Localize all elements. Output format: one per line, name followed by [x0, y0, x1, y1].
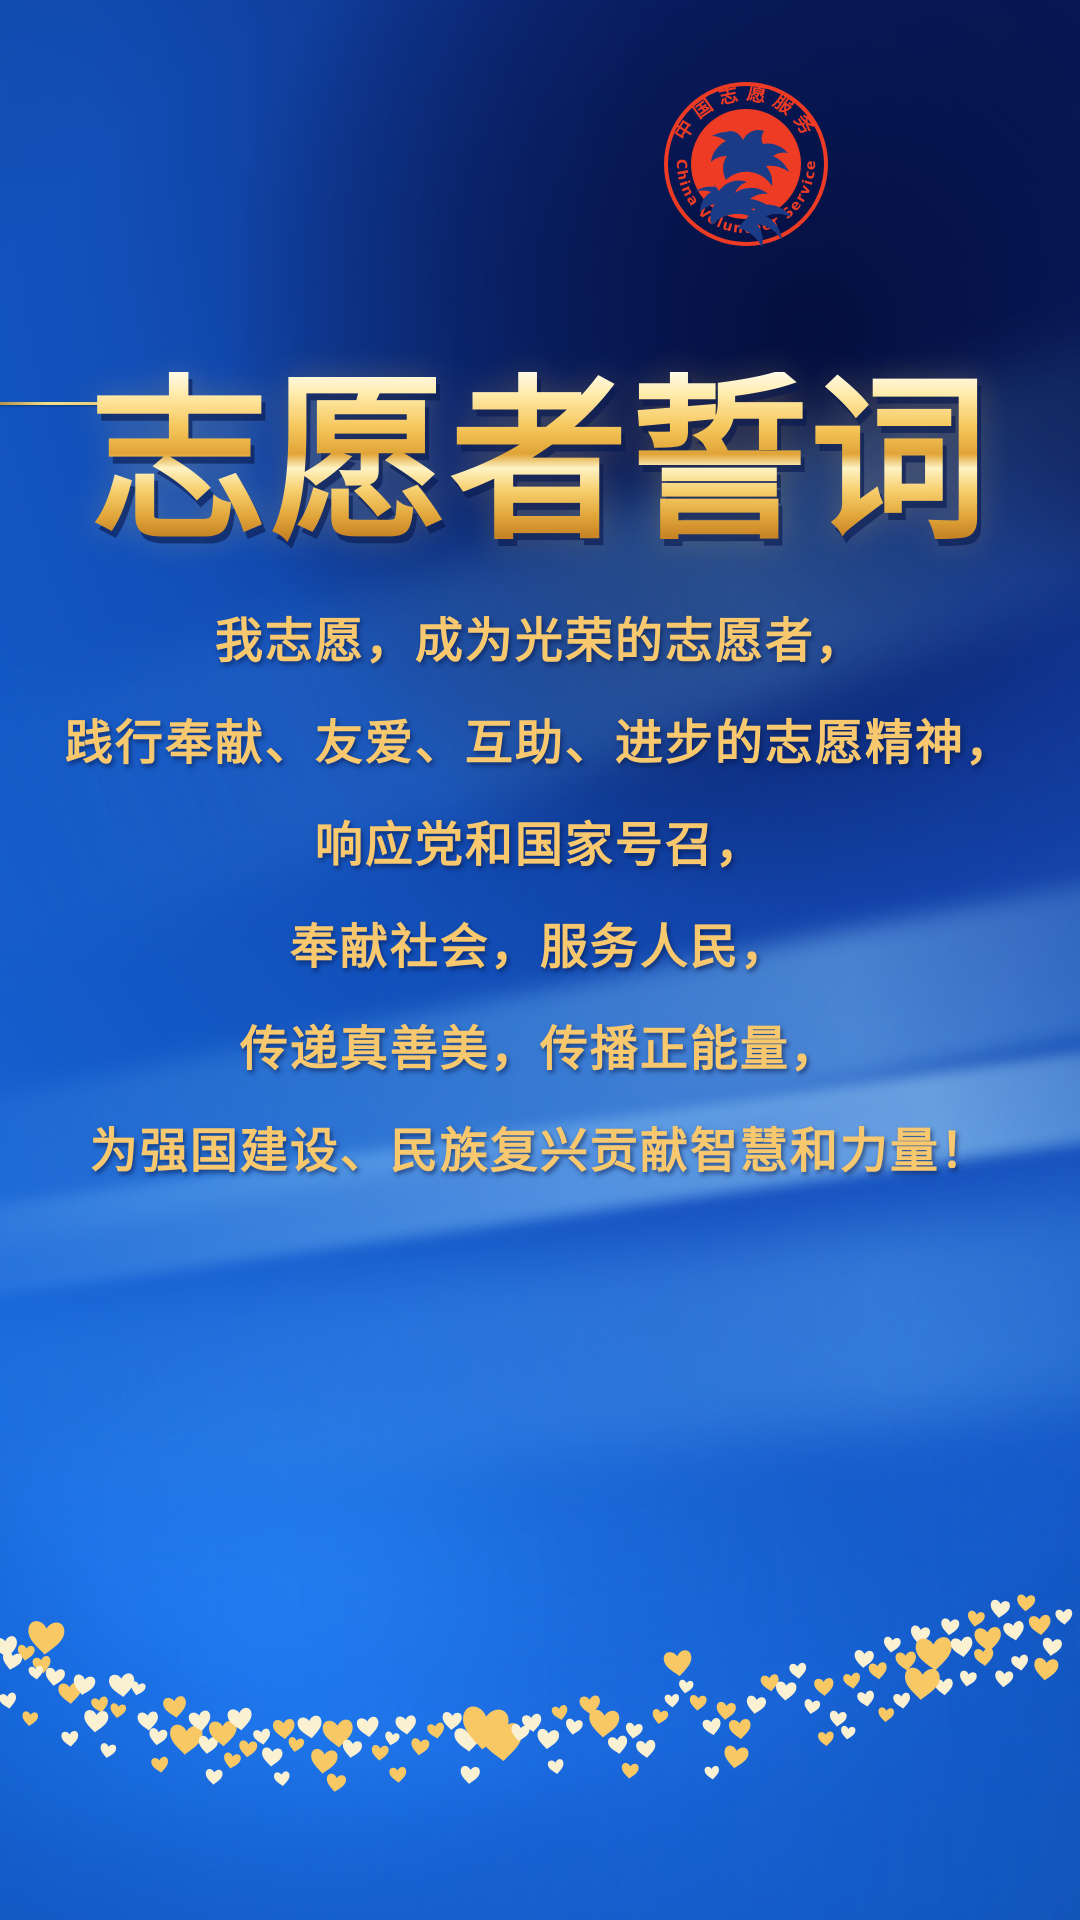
volunteer-pledge-poster: 中国志愿服务 China Volunteer Service 志愿者誓词 我志愿…	[0, 0, 1080, 1920]
pledge-line: 奉献社会，服务人民，	[0, 924, 1080, 972]
pledge-line: 为强国建设、民族复兴贡献智慧和力量！	[0, 1128, 1080, 1176]
pledge-line: 响应党和国家号召，	[0, 822, 1080, 870]
pledge-line: 传递真善美，传播正能量，	[0, 1026, 1080, 1074]
pledge-line: 我志愿，成为光荣的志愿者，	[0, 618, 1080, 666]
heart-confetti-decoration	[0, 1560, 1080, 1920]
pledge-line: 践行奉献、友爱、互助、进步的志愿精神，	[0, 720, 1080, 768]
pledge-text-block: 我志愿，成为光荣的志愿者， 践行奉献、友爱、互助、进步的志愿精神， 响应党和国家…	[0, 618, 1080, 1176]
china-volunteer-service-logo-icon: 中国志愿服务 China Volunteer Service	[663, 60, 829, 268]
page-title: 志愿者誓词	[0, 372, 1080, 550]
